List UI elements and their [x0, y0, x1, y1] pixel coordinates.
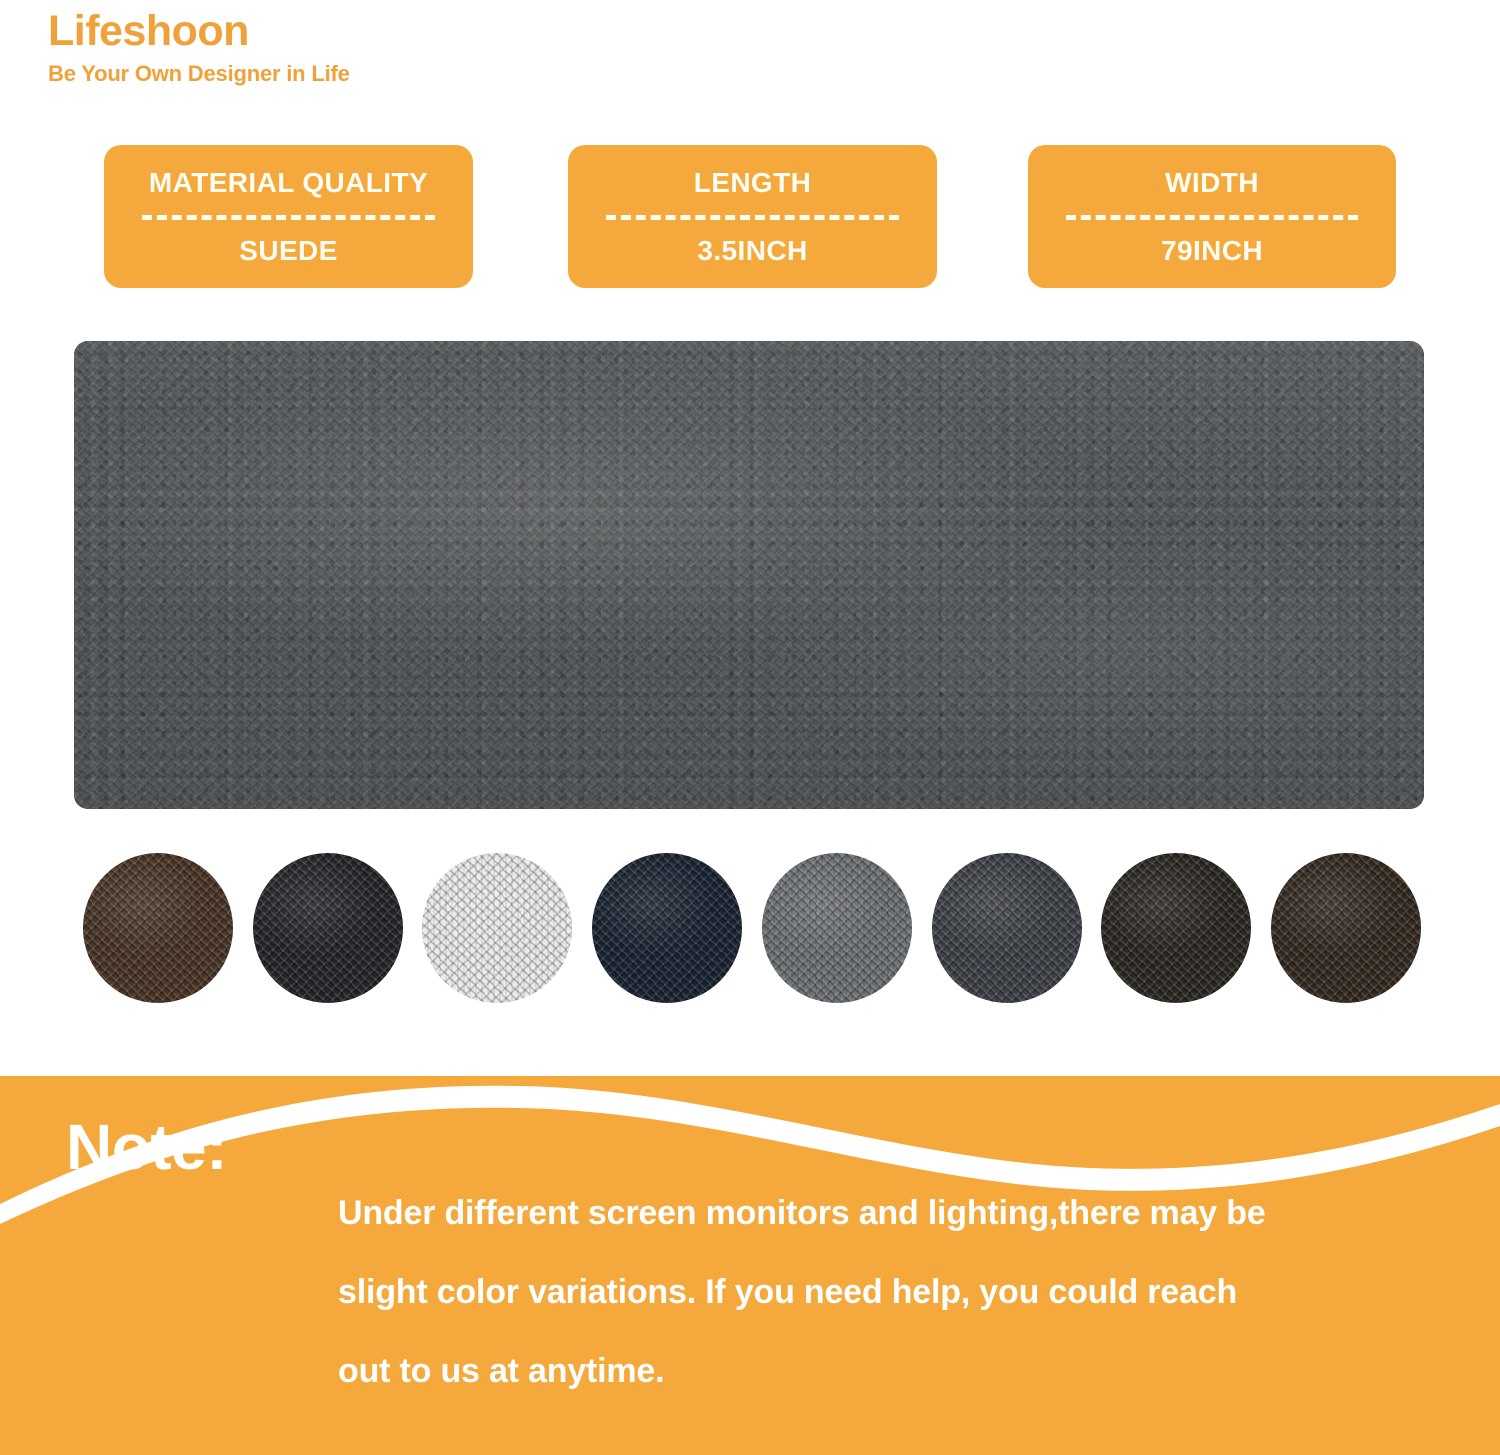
color-swatch-row — [83, 853, 1421, 1005]
color-swatch-navy-blue[interactable] — [592, 853, 742, 1003]
spec-value-width: 79INCH — [1161, 237, 1263, 265]
brand-tagline: Be Your Own Designer in Life — [48, 61, 748, 87]
dashed-divider-icon — [606, 215, 899, 220]
note-line-3: out to us at anytime. — [338, 1354, 1458, 1388]
color-swatch-espresso-black[interactable] — [1101, 853, 1251, 1003]
note-line-2: slight color variations. If you need hel… — [338, 1275, 1458, 1309]
swatch-texture — [422, 853, 572, 1003]
spec-value-material-quality: SUEDE — [239, 237, 337, 265]
product-infographic: Lifeshoon Be Your Own Designer in Life M… — [0, 0, 1500, 1455]
brand-header: Lifeshoon Be Your Own Designer in Life — [48, 8, 748, 88]
brand-name: Lifeshoon — [48, 8, 748, 55]
swatch-texture — [762, 853, 912, 1003]
swatch-texture — [253, 853, 403, 1003]
product-photo-rug — [74, 341, 1424, 809]
spec-badge-material-quality: MATERIAL QUALITY SUEDE — [104, 145, 473, 288]
note-line-1: Under different screen monitors and ligh… — [338, 1196, 1458, 1230]
swatch-texture — [83, 853, 233, 1003]
color-swatch-medium-gray[interactable] — [762, 853, 912, 1003]
swatch-texture — [932, 853, 1082, 1003]
spec-value-length: 3.5INCH — [697, 237, 807, 265]
note-heading: Note: — [66, 1115, 227, 1179]
swatch-texture — [1101, 853, 1251, 1003]
color-swatch-black[interactable] — [253, 853, 403, 1003]
rug-sheen — [74, 341, 1424, 809]
dashed-divider-icon — [1066, 215, 1358, 220]
spec-badge-row: MATERIAL QUALITY SUEDE LENGTH 3.5INCH WI… — [104, 145, 1396, 288]
spec-label-length: LENGTH — [694, 169, 812, 197]
note-body: Under different screen monitors and ligh… — [338, 1196, 1458, 1388]
spec-label-material-quality: MATERIAL QUALITY — [149, 169, 428, 197]
color-swatch-coffee-brown[interactable] — [1271, 853, 1421, 1003]
color-swatch-charcoal-gray[interactable] — [932, 853, 1082, 1003]
spec-badge-width: WIDTH 79INCH — [1028, 145, 1396, 288]
color-swatch-ivory-white[interactable] — [422, 853, 572, 1003]
swatch-texture — [1271, 853, 1421, 1003]
spec-badge-length: LENGTH 3.5INCH — [568, 145, 937, 288]
spec-label-width: WIDTH — [1165, 169, 1259, 197]
dashed-divider-icon — [142, 215, 435, 220]
swatch-texture — [592, 853, 742, 1003]
color-swatch-dark-brown[interactable] — [83, 853, 233, 1003]
